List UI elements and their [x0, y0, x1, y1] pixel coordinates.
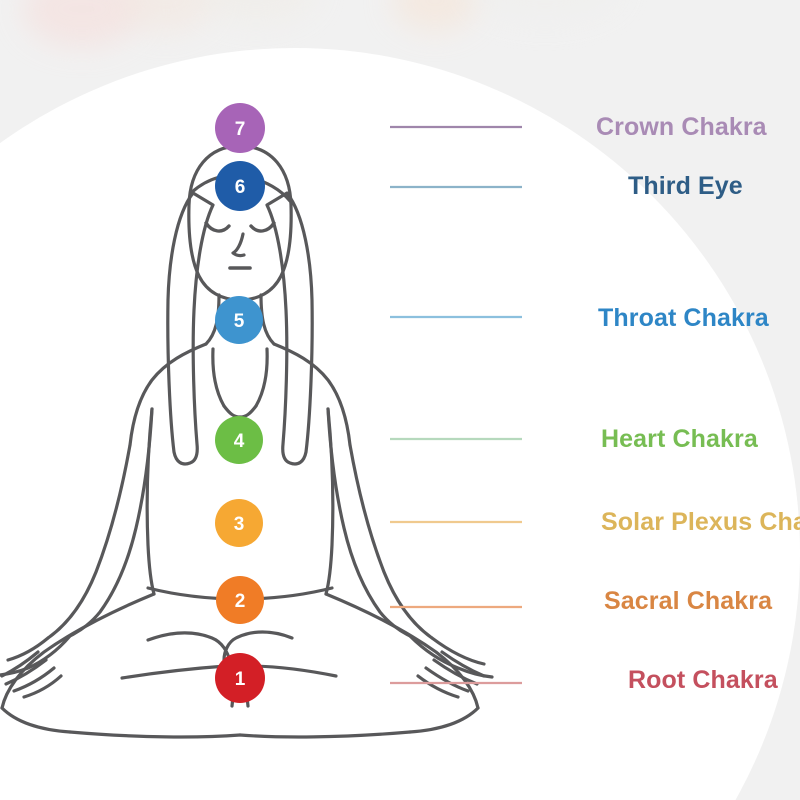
chakra-circles: 7654321: [215, 103, 265, 703]
chakra-diagram: 7654321 Crown ChakraThird EyeThroat Chak…: [0, 0, 800, 800]
chakra-number-6: 6: [235, 177, 246, 198]
chakra-marker-root-chakra[interactable]: 1: [215, 653, 265, 703]
chakra-marker-throat-chakra[interactable]: 5: [215, 296, 263, 344]
chakra-label-throat-chakra: Throat Chakra: [598, 306, 769, 331]
chakra-number-4: 4: [234, 431, 245, 452]
chakra-number-7: 7: [235, 119, 246, 140]
chakra-label-heart-chakra: Heart Chakra: [601, 427, 758, 452]
chakra-label-third-eye: Third Eye: [628, 174, 743, 199]
chakra-label-sacral-chakra: Sacral Chakra: [604, 589, 772, 614]
chakra-number-2: 2: [235, 591, 246, 612]
chakra-marker-heart-chakra[interactable]: 4: [215, 416, 263, 464]
chakra-marker-sacral-chakra[interactable]: 2: [216, 576, 264, 624]
chakra-label-crown-chakra: Crown Chakra: [596, 115, 767, 140]
chakra-marker-third-eye[interactable]: 6: [215, 161, 265, 211]
chakra-number-3: 3: [234, 514, 245, 535]
connector-lines: [390, 127, 522, 683]
chakra-number-1: 1: [235, 669, 246, 690]
chakra-marker-solar-plexus-chakra[interactable]: 3: [215, 499, 263, 547]
chakra-label-solar-plexus-chakra: Solar Plexus Chakra: [601, 510, 800, 535]
chakra-number-5: 5: [234, 311, 245, 332]
chakra-label-root-chakra: Root Chakra: [628, 668, 778, 693]
chakra-marker-crown-chakra[interactable]: 7: [215, 103, 265, 153]
